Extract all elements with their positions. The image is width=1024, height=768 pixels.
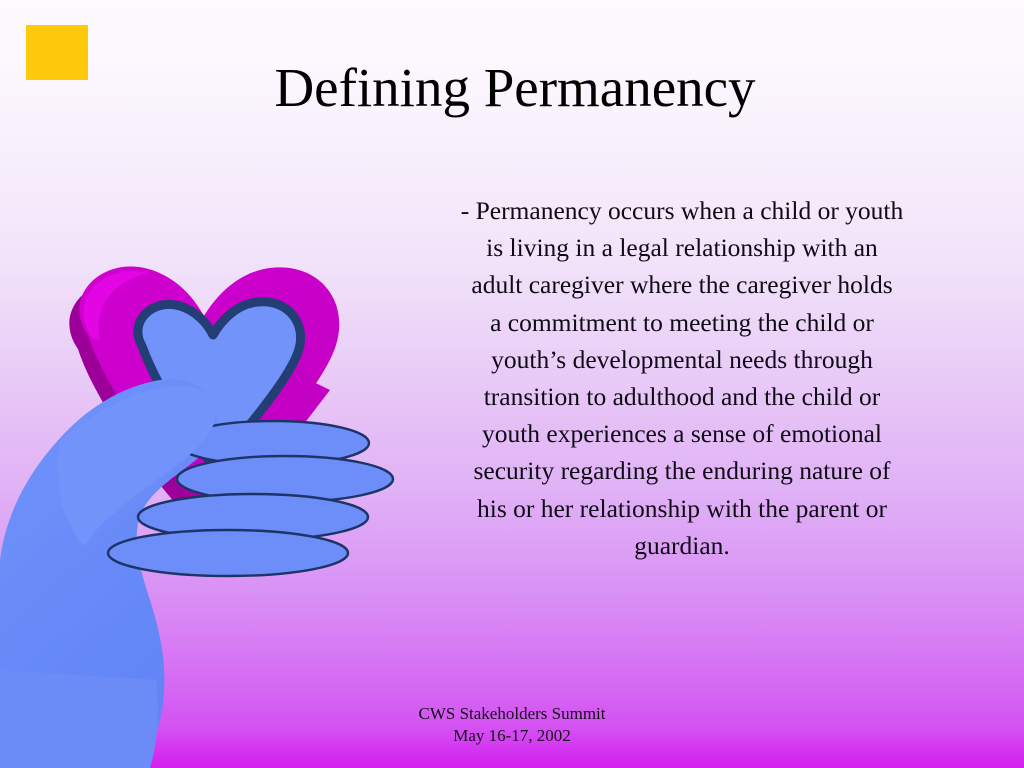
yellow-accent-square xyxy=(26,25,88,80)
body-line: transition to adulthood and the child or xyxy=(372,378,992,415)
body-line: his or her relationship with the parent … xyxy=(372,490,992,527)
finger-3 xyxy=(138,494,368,540)
heart-shadow-layer xyxy=(69,280,329,526)
heart-lower-wedge xyxy=(150,360,330,540)
finger-1 xyxy=(177,421,369,465)
footer-event-name: CWS Stakeholders Summit xyxy=(312,703,712,725)
body-line: a commitment to meeting the child or xyxy=(372,304,992,341)
body-line: youth experiences a sense of emotional xyxy=(372,415,992,452)
hand-fingers xyxy=(108,421,393,576)
body-line: - Permanency occurs when a child or yout… xyxy=(372,192,992,229)
slide-body-text: - Permanency occurs when a child or yout… xyxy=(372,192,992,564)
magenta-heart xyxy=(79,266,339,512)
slide-title: Defining Permanency xyxy=(120,58,910,117)
presentation-slide: Defining Permanency - Permanency occurs … xyxy=(0,0,1024,768)
body-line: adult caregiver where the caregiver hold… xyxy=(372,266,992,303)
blue-thumb xyxy=(57,386,215,546)
finger-4 xyxy=(108,530,348,576)
body-line: guardian. xyxy=(372,527,992,564)
blue-hand-arm xyxy=(0,379,217,768)
body-line: is living in a legal relationship with a… xyxy=(372,229,992,266)
blue-inner-heart xyxy=(138,302,301,466)
slide-footer: CWS Stakeholders Summit May 16-17, 2002 xyxy=(312,703,712,747)
body-line: youth’s developmental needs through xyxy=(372,341,992,378)
hand-holding-heart-illustration xyxy=(0,240,420,768)
finger-2 xyxy=(177,456,393,502)
footer-date: May 16-17, 2002 xyxy=(312,725,712,747)
body-line: security regarding the enduring nature o… xyxy=(372,452,992,489)
